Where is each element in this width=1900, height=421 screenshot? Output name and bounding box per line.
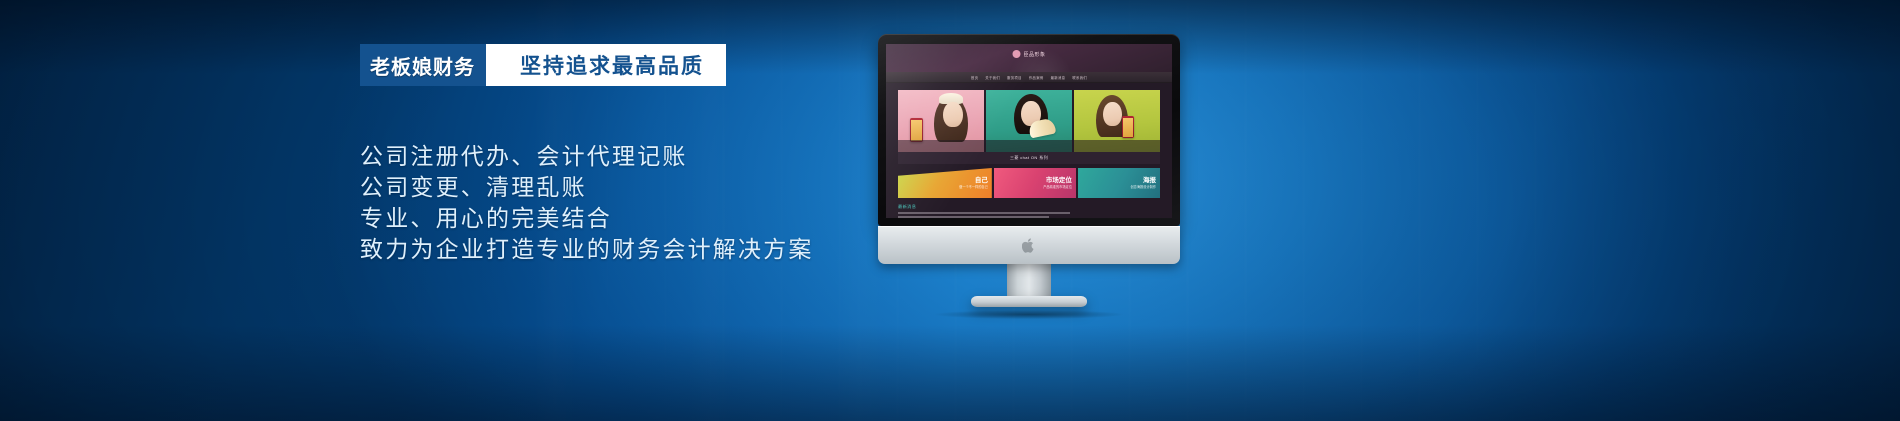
portrait-face bbox=[943, 102, 963, 127]
website-feature-strip: 三菱 chat ON 系列 bbox=[898, 152, 1160, 164]
website-navbar: 首页 关于我们 服务项目 作品案例 最新消息 联系我们 bbox=[886, 72, 1172, 83]
website-logo: 臣品形象 bbox=[1012, 50, 1045, 58]
imac-bezel: 臣品形象 首页 关于我们 服务项目 作品案例 最新消息 联系我们 bbox=[878, 34, 1180, 226]
website-promo-card-0: 自己 做一个不一样的自己 bbox=[898, 168, 992, 198]
slogan-badge: 坚持追求最高品质 bbox=[486, 44, 726, 86]
website-promo-row: 自己 做一个不一样的自己 市场定位 产品精准的市场定位 海报 创意海 bbox=[898, 168, 1160, 198]
website-logo-text: 臣品形象 bbox=[1023, 51, 1045, 58]
website-promo-title-0: 自己 bbox=[959, 176, 988, 186]
website-gallery-item-2 bbox=[1074, 90, 1160, 152]
imac-stand-neck bbox=[1007, 264, 1051, 296]
banner-text-lines: 公司注册代办、会计代理记账 公司变更、清理乱账 专业、用心的完美结合 致力为企业… bbox=[360, 141, 814, 265]
imac-screen: 臣品形象 首页 关于我们 服务项目 作品案例 最新消息 联系我们 bbox=[886, 44, 1172, 218]
apple-logo bbox=[1022, 237, 1036, 254]
website-hero-strip: 臣品形象 bbox=[886, 44, 1172, 72]
brand-badge: 老板娘财务 bbox=[360, 44, 486, 86]
website-news-line bbox=[898, 212, 1070, 214]
website-news-line bbox=[898, 216, 1049, 218]
website-gallery-item-0 bbox=[898, 90, 984, 152]
website-promo-subtitle-0: 做一个不一样的自己 bbox=[959, 185, 988, 190]
website-promo-card-2: 海报 创意海报设计制作 bbox=[1078, 168, 1160, 198]
imac-drop-shadow bbox=[935, 310, 1123, 319]
website-gallery-item-1 bbox=[986, 90, 1072, 152]
website-logo-mark-icon bbox=[1012, 50, 1020, 58]
website-nav-item-1: 关于我们 bbox=[985, 75, 1000, 80]
website-promo-title-2: 海报 bbox=[1131, 176, 1157, 186]
website-gallery-caption-2 bbox=[1074, 140, 1160, 152]
website-news-heading: 最新消息 bbox=[898, 204, 1070, 210]
website-news-block: 最新消息 bbox=[898, 204, 1070, 218]
imac-chin bbox=[878, 226, 1180, 264]
banner-line-1: 公司注册代办、会计代理记账 bbox=[360, 141, 814, 172]
website-nav-item-3: 作品案例 bbox=[1029, 75, 1044, 80]
website-feature-strip-text: 三菱 chat ON 系列 bbox=[1010, 155, 1048, 161]
website-promo-subtitle-1: 产品精准的市场定位 bbox=[1043, 185, 1072, 190]
banner-line-2: 公司变更、清理乱账 bbox=[360, 172, 814, 203]
website-promo-card-1: 市场定位 产品精准的市场定位 bbox=[994, 168, 1076, 198]
website-gallery-caption-1 bbox=[986, 140, 1072, 152]
portrait-face bbox=[1103, 102, 1122, 126]
imac-stand-base bbox=[971, 296, 1087, 307]
imac-mockup: 臣品形象 首页 关于我们 服务项目 作品案例 最新消息 联系我们 bbox=[878, 34, 1180, 319]
background-bottom-shade bbox=[0, 325, 1900, 421]
portrait-phone bbox=[910, 118, 923, 142]
website-gallery bbox=[898, 90, 1160, 152]
portrait-phone bbox=[1122, 116, 1134, 138]
website-nav-item-5: 联系我们 bbox=[1072, 75, 1087, 80]
website-nav-item-2: 服务项目 bbox=[1007, 75, 1022, 80]
website-nav-item-0: 首页 bbox=[971, 75, 978, 80]
website-nav-item-4: 最新消息 bbox=[1051, 75, 1066, 80]
website-promo-subtitle-2: 创意海报设计制作 bbox=[1131, 185, 1157, 190]
website-promo-title-1: 市场定位 bbox=[1043, 176, 1072, 186]
banner-line-4: 致力为企业打造专业的财务会计解决方案 bbox=[360, 234, 814, 265]
banner-badge-row: 老板娘财务 坚持追求最高品质 bbox=[360, 44, 814, 86]
banner-copy-block: 老板娘财务 坚持追求最高品质 公司注册代办、会计代理记账 公司变更、清理乱账 专… bbox=[360, 44, 814, 265]
hero-banner: 老板娘财务 坚持追求最高品质 公司注册代办、会计代理记账 公司变更、清理乱账 专… bbox=[0, 0, 1900, 421]
website-gallery-caption-0 bbox=[898, 140, 984, 152]
banner-line-3: 专业、用心的完美结合 bbox=[360, 203, 814, 234]
